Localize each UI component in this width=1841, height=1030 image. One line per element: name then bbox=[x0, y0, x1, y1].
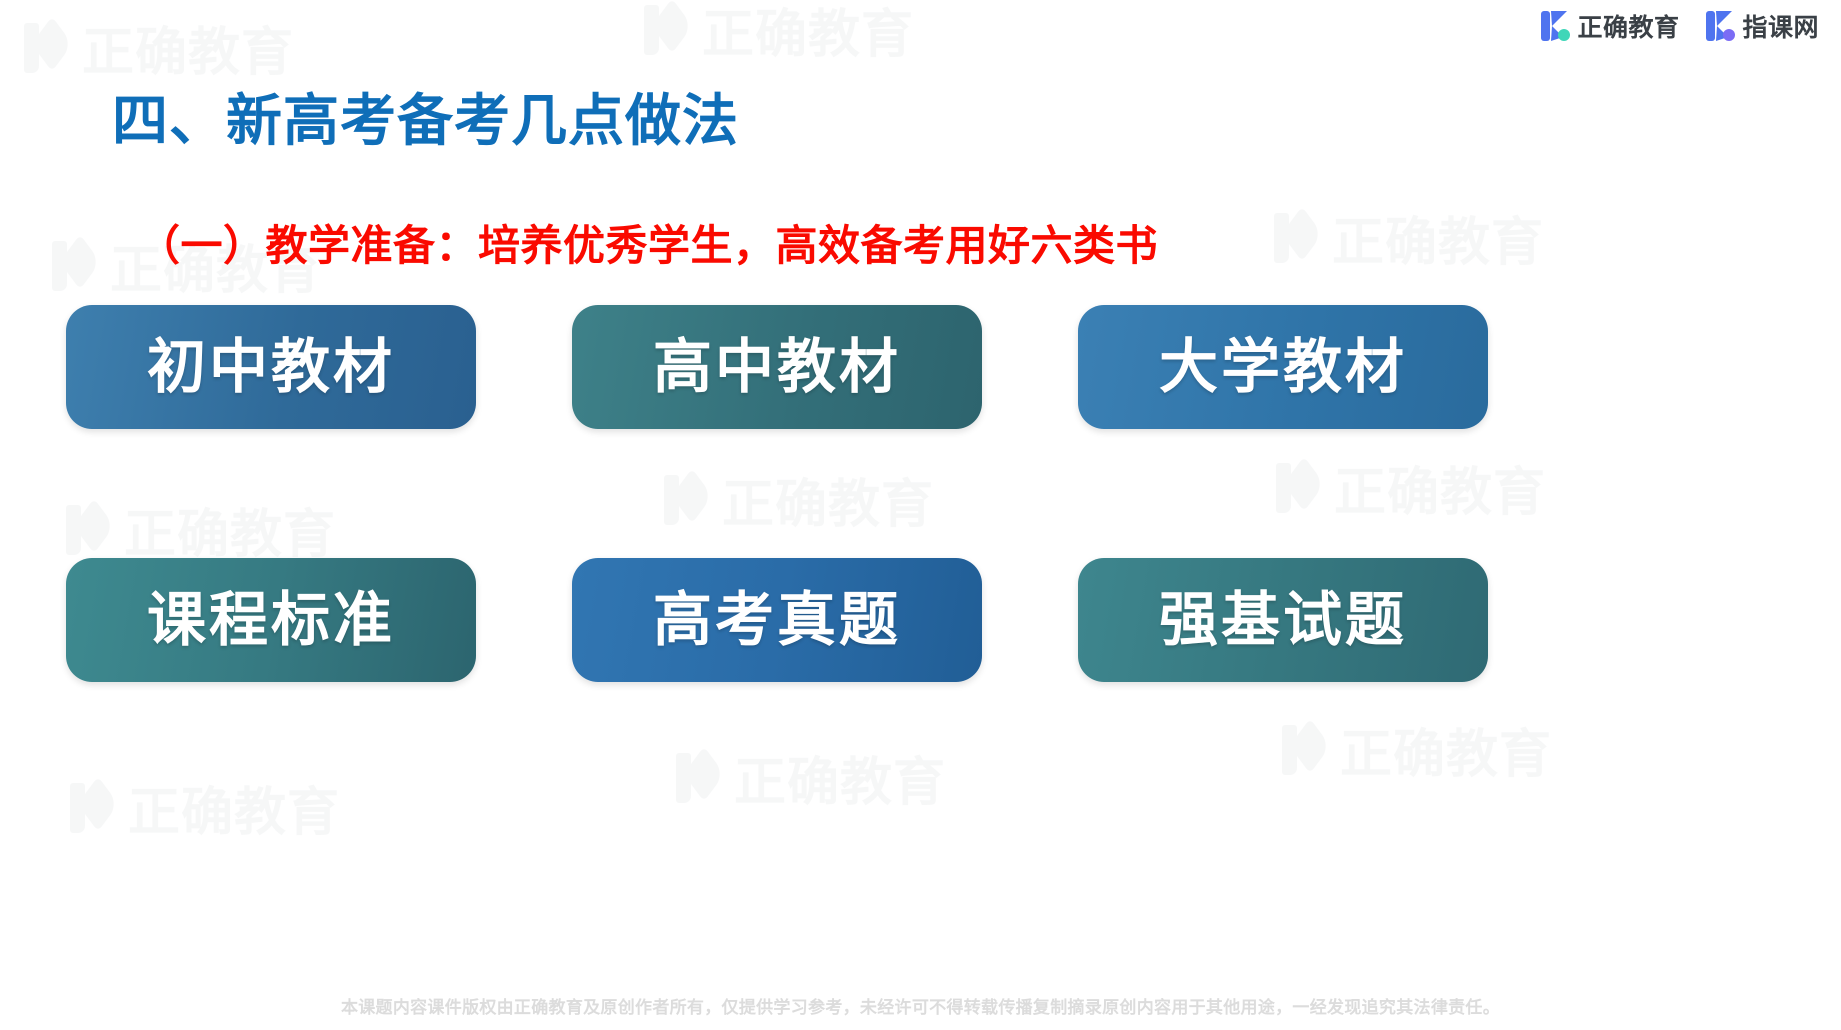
logo-label: 正确教育 bbox=[1577, 8, 1679, 44]
card-item[interactable]: 大学教材 bbox=[1078, 305, 1488, 429]
k-logo-icon bbox=[1278, 723, 1330, 777]
watermark-label: 正确教育 bbox=[82, 10, 294, 85]
section-subtitle: （一）教学准备：培养优秀学生，高效备考用好六类书 bbox=[138, 212, 1158, 273]
logo-label: 指课网 bbox=[1742, 8, 1819, 44]
k-logo-icon bbox=[48, 239, 100, 293]
watermark-label: 正确教育 bbox=[702, 0, 914, 67]
card-item[interactable]: 初中教材 bbox=[66, 305, 476, 429]
watermark-label: 正确教育 bbox=[1332, 200, 1544, 275]
card-label: 课程标准 bbox=[147, 591, 395, 650]
watermark-label: 正确教育 bbox=[734, 740, 946, 815]
logo-zhengque-jiaoyu: 正确教育 bbox=[1540, 8, 1679, 44]
card-item[interactable]: 强基试题 bbox=[1078, 558, 1488, 682]
watermark: 正确教育 bbox=[1278, 712, 1552, 787]
card-item[interactable]: 高考真题 bbox=[572, 558, 982, 682]
card-label: 大学教材 bbox=[1159, 338, 1407, 397]
watermark: 正确教育 bbox=[1270, 200, 1544, 275]
card-label: 高考真题 bbox=[653, 591, 901, 650]
k-logo-icon bbox=[20, 21, 72, 75]
watermark: 正确教育 bbox=[20, 10, 294, 85]
k-logo-icon bbox=[1540, 10, 1570, 42]
card-grid: 初中教材 高中教材 大学教材 课程标准 高考真题 强基试题 bbox=[66, 305, 1491, 682]
watermark-label: 正确教育 bbox=[1340, 712, 1552, 787]
k-logo-icon bbox=[1270, 211, 1322, 265]
card-label: 初中教材 bbox=[147, 338, 395, 397]
watermark: 正确教育 bbox=[672, 740, 946, 815]
logo-zhikewang: 指课网 bbox=[1705, 8, 1819, 44]
k-logo-icon bbox=[66, 781, 118, 835]
card-item[interactable]: 课程标准 bbox=[66, 558, 476, 682]
watermark: 正确教育 bbox=[640, 0, 914, 67]
watermark-label: 正确教育 bbox=[128, 770, 340, 845]
page-title: 四、新高考备考几点做法 bbox=[112, 76, 739, 157]
k-logo-icon bbox=[640, 3, 692, 57]
slide-canvas: 正确教育正确教育正确教育正确教育正确教育正确教育正确教育正确教育正确教育正确教育… bbox=[0, 0, 1841, 1030]
card-label: 强基试题 bbox=[1159, 591, 1407, 650]
logo-bar: 正确教育 指课网 bbox=[1540, 8, 1819, 44]
watermark: 正确教育 bbox=[66, 770, 340, 845]
k-logo-icon bbox=[1705, 10, 1735, 42]
card-label: 高中教材 bbox=[653, 338, 901, 397]
card-item[interactable]: 高中教材 bbox=[572, 305, 982, 429]
k-logo-icon bbox=[672, 751, 724, 805]
copyright-footer: 本课题内容课件版权由正确教育及原创作者所有，仅提供学习参考，未经许可不得转载传播… bbox=[0, 993, 1841, 1018]
